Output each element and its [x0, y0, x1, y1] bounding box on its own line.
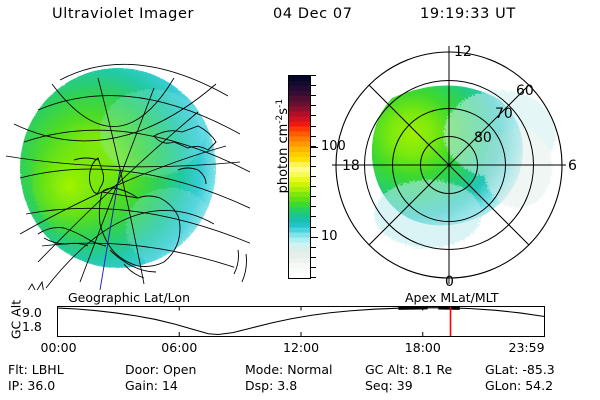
status-field-dsp: Dsp: 3.8	[245, 378, 297, 393]
status-value: -85.3	[522, 362, 554, 377]
instrument-title: Ultraviolet Imager	[52, 6, 194, 22]
status-field-glon: GLon: 54.2	[485, 378, 553, 393]
geographic-image-panel[interactable]	[2, 38, 250, 290]
status-field-flt: Flt: LBHL	[8, 362, 64, 377]
status-value: 54.2	[525, 378, 553, 393]
uvi-display-window: Ultraviolet Imager 04 Dec 07 19:19:33 UT	[0, 0, 600, 400]
colorbar-minor-tick	[310, 136, 316, 137]
status-value: 14	[162, 378, 178, 393]
mlt-dial-svg: 12 18 0 6 60 70 80	[332, 38, 598, 292]
status-value: 3.8	[277, 378, 297, 393]
mlat-label-80: 80	[474, 130, 492, 146]
status-key: GLon:	[485, 378, 525, 393]
time-axis-label-0000: 00:00	[41, 340, 77, 355]
mlat-label-60: 60	[516, 83, 534, 99]
colorbar-exp-cm: -2	[275, 115, 285, 124]
status-key: Flt:	[8, 362, 32, 377]
altitude-trace	[58, 308, 545, 335]
colorbar-minor-tick	[310, 196, 316, 197]
mlt-label-0: 0	[445, 274, 454, 290]
mlt-label-18: 18	[342, 158, 360, 174]
mlt-spokes	[332, 46, 566, 284]
colorbar-minor-tick	[310, 75, 316, 76]
colorbar-minor-tick	[310, 176, 316, 177]
orbit-plot-svg	[57, 306, 545, 337]
status-field-glat: GLat: -85.3	[485, 362, 555, 377]
colorbar-gradient	[289, 76, 310, 278]
header-bar: Ultraviolet Imager 04 Dec 07 19:19:33 UT	[0, 6, 600, 28]
colorbar-tick-marks	[310, 75, 318, 279]
geographic-projection-svg	[2, 38, 250, 290]
colorbar-minor-tick	[310, 257, 316, 258]
colorbar-minor-tick	[310, 95, 316, 96]
time-axis-ticks	[58, 307, 545, 337]
mlt-label-6: 6	[568, 158, 577, 174]
mlt-label-12: 12	[454, 44, 472, 60]
observation-date: 04 Dec 07	[273, 6, 353, 22]
status-key: Mode:	[245, 362, 287, 377]
geo-panel-caption: Geographic Lat/Lon	[68, 290, 190, 305]
colorbar-minor-tick	[310, 186, 316, 187]
mlt-panel-caption: Apex MLat/MLT	[405, 290, 499, 305]
status-key: GLat:	[485, 362, 522, 377]
status-field-gcalt: GC Alt: 8.1 Re	[365, 362, 452, 377]
status-value: LBHL	[32, 362, 64, 377]
colorbar-minor-tick	[310, 85, 316, 86]
status-value: 39	[397, 378, 413, 393]
status-field-mode: Mode: Normal	[245, 362, 332, 377]
orbit-altitude-section[interactable]: Geographic Lat/Lon Apex MLat/MLT GC Alt …	[0, 290, 600, 356]
time-axis-label-2359: 23:59	[509, 340, 545, 355]
colorbar-minor-tick	[310, 115, 316, 116]
colorbar-major-tick	[310, 147, 318, 148]
gc-alt-tick-high: 9.0	[22, 305, 42, 320]
status-field-door: Door: Open	[125, 362, 196, 377]
status-key: Door:	[125, 362, 163, 377]
status-value: 36.0	[27, 378, 55, 393]
status-field-ip: IP: 36.0	[8, 378, 55, 393]
colorbar-minor-tick	[310, 216, 316, 217]
colorbar-minor-tick	[310, 166, 316, 167]
orbit-altitude-plot[interactable]	[57, 306, 545, 337]
status-value: Normal	[287, 362, 332, 377]
colorbar-minor-tick	[310, 247, 316, 248]
status-field-seq: Seq: 39	[365, 378, 413, 393]
gc-alt-tick-low: 1.8	[22, 319, 42, 334]
mlat-label-70: 70	[495, 106, 513, 122]
colorbar-minor-tick	[310, 126, 316, 127]
status-key: Gain:	[125, 378, 162, 393]
colorbar-minor-tick	[310, 227, 316, 228]
colorbar-swatch	[288, 75, 311, 279]
time-axis-label-0600: 06:00	[161, 340, 197, 355]
colorbar-minor-tick	[310, 156, 316, 157]
status-field-gain: Gain: 14	[125, 378, 178, 393]
intensity-colorbar[interactable]: photon cm-2s-1 10010	[255, 70, 341, 285]
colorbar-minor-tick	[310, 277, 316, 278]
status-value: 8.1 Re	[413, 362, 453, 377]
status-key: IP:	[8, 378, 27, 393]
colorbar-exp-s: -1	[275, 99, 285, 108]
colorbar-minor-tick	[310, 105, 316, 106]
colorbar-major-tick	[310, 237, 318, 238]
status-readout-block: Flt: LBHLDoor: OpenMode: NormalGC Alt: 8…	[0, 362, 600, 396]
status-key: GC Alt:	[365, 362, 413, 377]
time-axis-label-1800: 18:00	[405, 340, 441, 355]
time-axis-label-1200: 12:00	[283, 340, 319, 355]
status-key: Dsp:	[245, 378, 277, 393]
status-key: Seq:	[365, 378, 397, 393]
colorbar-minor-tick	[310, 206, 316, 207]
colorbar-minor-tick	[310, 267, 316, 268]
observation-time: 19:19:33 UT	[420, 6, 516, 22]
status-value: Open	[163, 362, 196, 377]
magnetic-coordinates-panel[interactable]: 12 18 0 6 60 70 80	[332, 38, 598, 292]
